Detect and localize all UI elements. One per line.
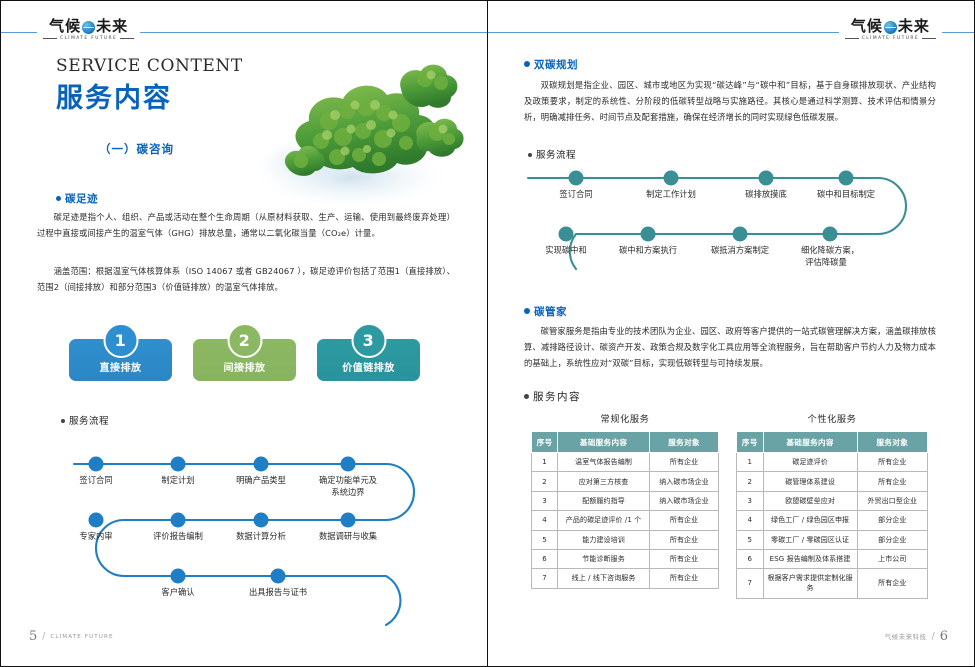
service-flow-left-path: [56, 429, 456, 629]
logo-dash-left: [43, 38, 57, 39]
logo-right: 气候 未来 CLIMATE FUTURE: [839, 19, 942, 41]
scope-card-2-number: 2: [227, 323, 262, 358]
paragraph-footprint-1-text: 碳足迹是指个人、组织、产品或活动在整个生命周期（从原材料获取、生产、运输、使用到…: [37, 209, 455, 241]
flow-node-label: 碳中和目标制定: [817, 189, 875, 200]
cell-service: 配额履约指导: [558, 491, 650, 510]
table-row: 7 线上 / 线下咨询服务 所有企业: [532, 569, 719, 588]
flow-node-label: 专家内审: [79, 531, 112, 542]
heading-service-flow-right: 服务流程: [528, 147, 576, 161]
flow-node-label: 确定功能单元及: [319, 475, 377, 486]
footer-slash: /: [42, 632, 45, 642]
service-flow-right: 签订合同 制定工作计划 碳排放摸底 碳中和目标制定 实现碳中和 碳中和方案执行 …: [518, 161, 938, 271]
paragraph-footprint-2-text: 涵盖范围：根据温室气体核算体系（ISO 14067 或者 GB24067 ），碳…: [37, 263, 455, 295]
cell-index: 1: [737, 453, 764, 472]
table-row: 4 绿色工厂 / 绿色园区申报 部分企业: [737, 511, 928, 530]
cell-service: 线上 / 线下咨询服务: [558, 569, 650, 588]
flow-node-label: 签订合同: [79, 475, 112, 486]
flow-node-label: 细化降碳方案，: [801, 245, 859, 256]
flow-node-label: 碳排放摸底: [745, 189, 787, 200]
cell-target: 所有企业: [650, 511, 719, 530]
cell-service: 碳管理体系建设: [763, 472, 857, 491]
bullet-dot-icon: [61, 419, 65, 423]
scope-card-1-number: 1: [103, 323, 138, 358]
cell-service: 应对第三方核查: [558, 472, 650, 491]
logo-tagline: CLIMATE FUTURE: [43, 36, 134, 41]
heading-carbon-steward: 碳管家: [524, 304, 567, 319]
flow-node-label: 实现碳中和: [545, 245, 587, 256]
table-custom-caption: 个性化服务: [736, 411, 928, 425]
table-row: 7 根据客户需求提供定制化服务 所有企业: [737, 569, 928, 598]
table-row: 1 碳足迹评价 所有企业: [737, 453, 928, 472]
flow-node-label: 制定工作计划: [646, 189, 696, 200]
table-row: 1 温室气体报告编制 所有企业: [532, 453, 719, 472]
table-custom-services: 个性化服务 序号 基础服务内容 服务对象 1 碳足迹评价 所有企业: [736, 411, 928, 599]
th-index: 序号: [737, 432, 764, 453]
footer-left: 5 / CLIMATE FUTURE: [29, 629, 114, 644]
paragraph-steward-text: 碳管家服务是指由专业的技术团队为企业、园区、政府等客户提供的一站式碳管理解决方案…: [524, 323, 936, 372]
flow-node-label: 碳中和方案执行: [619, 245, 677, 256]
cell-service: 能力建设培训: [558, 530, 650, 549]
heading-carbon-steward-label: 碳管家: [534, 306, 567, 318]
logo-dash-right: [120, 38, 134, 39]
document-spread: 气候 未来 CLIMATE FUTURE SERVICE CONTENT 服务内…: [0, 0, 975, 667]
flow-node-label: 制定计划: [161, 475, 194, 486]
cell-target: 所有企业: [650, 453, 719, 472]
heading-dual-carbon-planning: 双碳规划: [524, 57, 578, 72]
page-title-en: SERVICE CONTENT: [56, 56, 243, 76]
paragraph-footprint-1: 碳足迹是指个人、组织、产品或活动在整个生命周期（从原材料获取、生产、运输、使用到…: [37, 209, 455, 241]
cell-target: 上市公司: [857, 549, 927, 568]
logo-text-a: 气候: [851, 19, 883, 34]
logo-text-b: 未来: [898, 19, 930, 34]
heading-service-flow-left-label: 服务流程: [69, 416, 109, 427]
flow-node-label: 碳抵消方案制定: [711, 245, 769, 256]
flow-node-label: 客户确认: [161, 587, 194, 598]
cell-service: 碳足迹评价: [763, 453, 857, 472]
cell-service: 零碳工厂 / 零碳园区认证: [763, 530, 857, 549]
th-service: 基础服务内容: [763, 432, 857, 453]
heading-carbon-footprint: 碳足迹: [56, 191, 98, 206]
footer-brand: 气候未来科技: [885, 632, 927, 641]
cell-index: 1: [532, 453, 558, 472]
globe-icon: [82, 21, 95, 34]
footer-right: 气候未来科技 / 6: [885, 629, 948, 644]
cell-target: 部分企业: [857, 511, 927, 530]
flow-node-label: 评估降碳量: [805, 257, 847, 268]
cell-target: 所有企业: [650, 549, 719, 568]
flow-node-label: 评价报告编制: [153, 531, 203, 542]
cell-service: 节能诊断服务: [558, 549, 650, 568]
page-title-cn: 服务内容: [56, 76, 172, 115]
th-target: 服务对象: [857, 432, 927, 453]
table-row: 3 欧盟碳壁垒应对 外贸出口型企业: [737, 491, 928, 510]
cell-target: 纳入碳市场企业: [650, 472, 719, 491]
bullet-dot-icon: [524, 394, 529, 399]
logo-dash-left: [845, 38, 859, 39]
flow-node-label: 出具报告与证书: [249, 587, 307, 598]
heading-service-flow-right-label: 服务流程: [536, 150, 576, 161]
cell-target: 外贸出口型企业: [857, 491, 927, 510]
cell-target: 所有企业: [857, 569, 927, 598]
th-target: 服务对象: [650, 432, 719, 453]
cell-index: 5: [532, 530, 558, 549]
table-row: 2 碳管理体系建设 所有企业: [737, 472, 928, 491]
table-row: 5 能力建设培训 所有企业: [532, 530, 719, 549]
scope-card-1: 1 直接排放: [69, 339, 172, 381]
heading-service-content-label: 服务内容: [533, 391, 581, 403]
scope-card-3-number: 3: [351, 323, 386, 358]
cell-index: 4: [737, 511, 764, 530]
cell-target: 所有企业: [650, 569, 719, 588]
logo-dash-right: [922, 38, 936, 39]
cell-index: 7: [532, 569, 558, 588]
scope-card-1-label: 直接排放: [100, 359, 142, 374]
forest-illustration: [251, 49, 476, 219]
footer-page-number: 5: [29, 629, 37, 644]
cell-target: 所有企业: [857, 453, 927, 472]
heading-service-content: 服务内容: [524, 389, 581, 404]
globe-icon: [884, 21, 897, 34]
table-row: 2 应对第三方核查 纳入碳市场企业: [532, 472, 719, 491]
table-standard-services: 常规化服务 序号 基础服务内容 服务对象 1 温室气体报告编制 所有企业: [531, 411, 719, 589]
cell-target: 纳入碳市场企业: [650, 491, 719, 510]
scope-card-2: 2 间接排放: [193, 339, 296, 381]
paragraph-footprint-2: 涵盖范围：根据温室气体核算体系（ISO 14067 或者 GB24067 ），碳…: [37, 263, 455, 295]
cell-service: ESG 报告编制及体系搭建: [763, 549, 857, 568]
footer-brand: CLIMATE FUTURE: [50, 634, 113, 640]
cell-index: 3: [532, 491, 558, 510]
cell-index: 7: [737, 569, 764, 598]
table-row: 6 ESG 报告编制及体系搭建 上市公司: [737, 549, 928, 568]
left-page: 气候 未来 CLIMATE FUTURE SERVICE CONTENT 服务内…: [0, 0, 487, 667]
cell-target: 所有企业: [650, 530, 719, 549]
scope-card-3-label: 价值链排放: [342, 359, 395, 374]
logo-tagline-text: CLIMATE FUTURE: [862, 36, 919, 41]
flow-node-label: 数据调研与收集: [319, 531, 377, 542]
bullet-dot-icon: [524, 308, 530, 314]
th-index: 序号: [532, 432, 558, 453]
flow-node-label: 明确产品类型: [236, 475, 286, 486]
cell-index: 6: [737, 549, 764, 568]
paragraph-steward: 碳管家服务是指由专业的技术团队为企业、园区、政府等客户提供的一站式碳管理解决方案…: [524, 323, 936, 372]
cell-index: 2: [737, 472, 764, 491]
bullet-dot-icon: [524, 61, 530, 67]
right-page: 气候 未来 CLIMATE FUTURE 双碳规划 双碳规划是指企业、园区、城市…: [487, 0, 975, 667]
cell-service: 产品的碳足迹评价 /1 个: [558, 511, 650, 530]
table-row: 6 节能诊断服务 所有企业: [532, 549, 719, 568]
logo-text-b: 未来: [96, 19, 128, 34]
scope-cards: 1 直接排放 2 间接排放 3 价值链排放: [69, 319, 419, 389]
table-row: 5 零碳工厂 / 零碳园区认证 部分企业: [737, 530, 928, 549]
cell-index: 3: [737, 491, 764, 510]
cell-index: 6: [532, 549, 558, 568]
table-row: 3 配额履约指导 纳入碳市场企业: [532, 491, 719, 510]
cell-index: 5: [737, 530, 764, 549]
flow-node-label: 数据计算分析: [236, 531, 286, 542]
paragraph-planning-text: 双碳规划是指企业、园区、城市或地区为实现“碳达峰”与“碳中和”目标，基于自身碳排…: [524, 77, 936, 126]
custom-services-table: 序号 基础服务内容 服务对象 1 碳足迹评价 所有企业 2 碳管理体系建设 所有…: [736, 431, 928, 599]
cell-target: 部分企业: [857, 530, 927, 549]
cell-index: 4: [532, 511, 558, 530]
cell-service: 温室气体报告编制: [558, 453, 650, 472]
heading-service-flow-left: 服务流程: [61, 413, 109, 427]
logo-wordmark: 气候 未来: [851, 19, 930, 34]
scope-card-2-label: 间接排放: [224, 359, 266, 374]
bullet-dot-icon: [528, 153, 532, 157]
footer-slash: /: [932, 632, 935, 642]
flow-node-label: 签订合同: [559, 189, 592, 200]
standard-services-table: 序号 基础服务内容 服务对象 1 温室气体报告编制 所有企业 2 应对第三方核查…: [531, 431, 719, 589]
cell-target: 所有企业: [857, 472, 927, 491]
heading-carbon-footprint-label: 碳足迹: [65, 193, 98, 205]
table-standard-caption: 常规化服务: [531, 411, 719, 425]
paragraph-planning: 双碳规划是指企业、园区、城市或地区为实现“碳达峰”与“碳中和”目标，基于自身碳排…: [524, 77, 936, 126]
footer-page-number: 6: [940, 629, 948, 644]
heading-dual-carbon-planning-label: 双碳规划: [534, 59, 578, 71]
section-subtitle: （一）碳咨询: [99, 141, 174, 157]
table-row: 4 产品的碳足迹评价 /1 个 所有企业: [532, 511, 719, 530]
scope-card-3: 3 价值链排放: [317, 339, 420, 381]
bullet-dot-icon: [56, 196, 61, 201]
cell-index: 2: [532, 472, 558, 491]
logo-left: 气候 未来 CLIMATE FUTURE: [37, 19, 140, 41]
flow-node-label: 系统边界: [331, 487, 364, 498]
th-service: 基础服务内容: [558, 432, 650, 453]
logo-wordmark: 气候 未来: [49, 19, 128, 34]
logo-tagline-text: CLIMATE FUTURE: [60, 36, 117, 41]
service-flow-left: 签订合同 制定计划 明确产品类型 确定功能单元及 系统边界 专家内审 评价报告编…: [56, 429, 456, 629]
cell-service: 绿色工厂 / 绿色园区申报: [763, 511, 857, 530]
table-header-row: 序号 基础服务内容 服务对象: [737, 432, 928, 453]
table-header-row: 序号 基础服务内容 服务对象: [532, 432, 719, 453]
logo-text-a: 气候: [49, 19, 81, 34]
cell-service: 根据客户需求提供定制化服务: [763, 569, 857, 598]
logo-tagline: CLIMATE FUTURE: [845, 36, 936, 41]
cell-service: 欧盟碳壁垒应对: [763, 491, 857, 510]
